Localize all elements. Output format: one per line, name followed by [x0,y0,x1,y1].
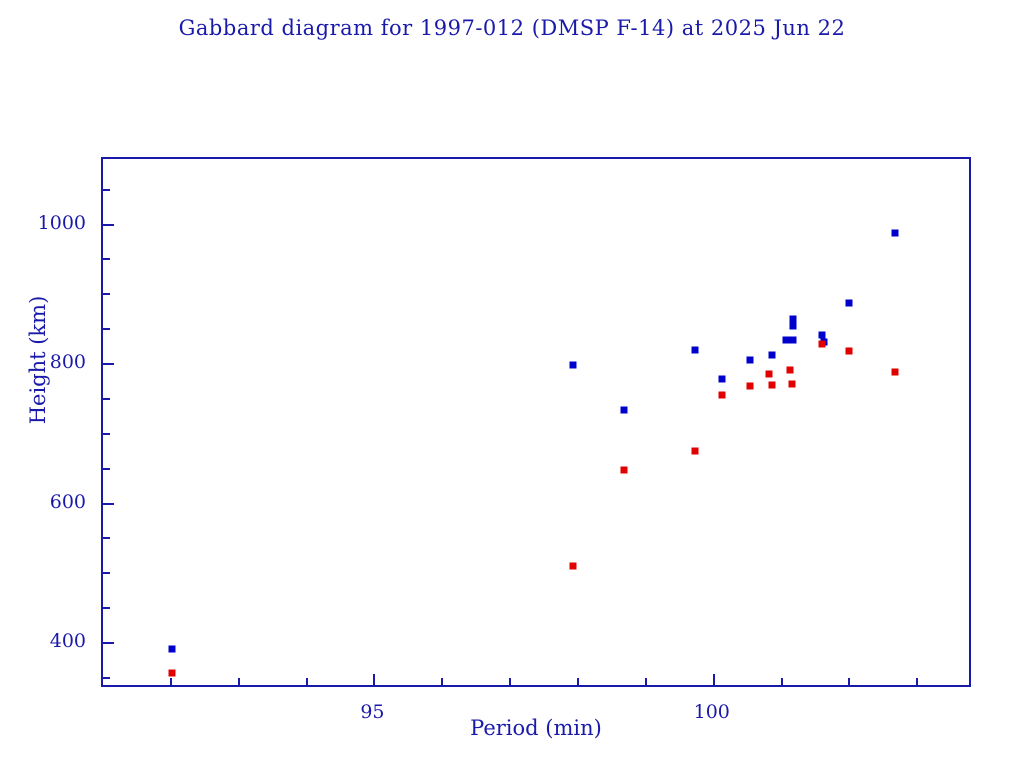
y-axis-tick-label: 1000 [6,212,86,234]
data-point-apogee [746,356,753,363]
x-axis-tick [916,678,918,685]
y-axis-tick [103,433,110,435]
x-axis-label: Period (min) [101,716,971,740]
y-axis-label: Height (km) [26,260,50,460]
chart-title: Gabbard diagram for 1997-012 (DMSP F-14)… [0,16,1024,40]
y-axis-tick [103,607,110,609]
data-point-apogee [169,645,176,652]
data-point-perigee [788,381,795,388]
x-axis-tick [373,674,375,685]
y-axis-tick [103,677,110,679]
data-point-perigee [691,448,698,455]
data-point-perigee [891,369,898,376]
data-point-apogee [621,407,628,414]
y-axis-tick-label: 400 [6,630,86,652]
y-axis-tick [103,572,110,574]
y-axis-tick [103,468,110,470]
data-point-perigee [621,467,628,474]
data-point-perigee [569,562,576,569]
y-axis-tick [103,537,110,539]
x-axis-tick [577,678,579,685]
plot-frame [101,157,971,687]
data-point-perigee [845,348,852,355]
y-axis-tick [103,189,110,191]
data-point-apogee [790,336,797,343]
data-point-apogee [718,376,725,383]
y-axis-tick [103,328,110,330]
y-axis-tick [103,642,114,644]
data-point-perigee [769,381,776,388]
x-axis-tick [713,674,715,685]
data-point-perigee [746,383,753,390]
y-axis-tick [103,293,110,295]
data-point-apogee [819,331,826,338]
data-point-apogee [891,229,898,236]
y-axis-tick [103,503,114,505]
y-axis-tick-label: 600 [6,491,86,513]
data-point-apogee [769,351,776,358]
data-point-apogee [845,299,852,306]
plot-area [103,159,969,685]
x-axis-tick [781,678,783,685]
data-point-perigee [786,367,793,374]
y-axis-tick [103,363,114,365]
data-point-perigee [819,340,826,347]
x-axis-tick [306,678,308,685]
gabbard-diagram-figure: Gabbard diagram for 1997-012 (DMSP F-14)… [0,0,1024,768]
x-axis-tick [645,678,647,685]
y-axis-tick [103,398,110,400]
x-axis-tick [441,678,443,685]
x-axis-tick [238,678,240,685]
x-axis-tick [170,678,172,685]
data-point-perigee [169,669,176,676]
data-point-apogee [691,347,698,354]
data-point-perigee [765,370,772,377]
data-point-apogee [569,362,576,369]
data-point-apogee [790,322,797,329]
y-axis-tick [103,224,114,226]
x-axis-tick [848,678,850,685]
y-axis-tick [103,258,110,260]
data-point-perigee [718,392,725,399]
x-axis-tick [509,678,511,685]
